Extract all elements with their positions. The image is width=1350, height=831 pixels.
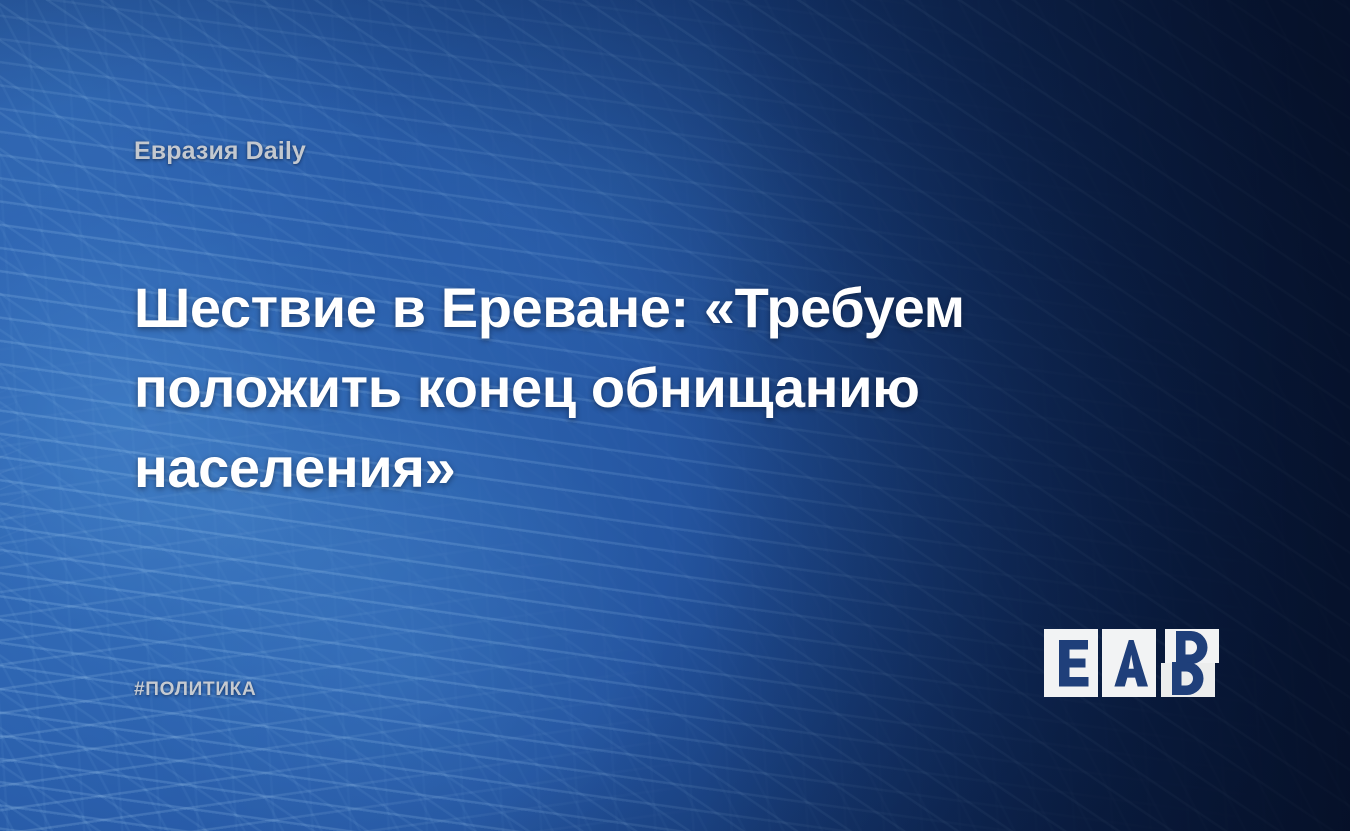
site-logo-wordmark: Евразия Daily	[134, 137, 306, 166]
card-content: Евразия Daily Шествие в Ереване: «Требуе…	[0, 0, 1350, 831]
ead-monogram-icon	[1044, 629, 1226, 697]
ead-monogram-logo	[1044, 629, 1226, 697]
news-share-card: Евразия Daily Шествие в Ереване: «Требуе…	[0, 0, 1350, 831]
article-headline: Шествие в Ереване: «Требуем положить кон…	[134, 268, 1244, 508]
category-tag: #ПОЛИТИКА	[134, 679, 256, 701]
